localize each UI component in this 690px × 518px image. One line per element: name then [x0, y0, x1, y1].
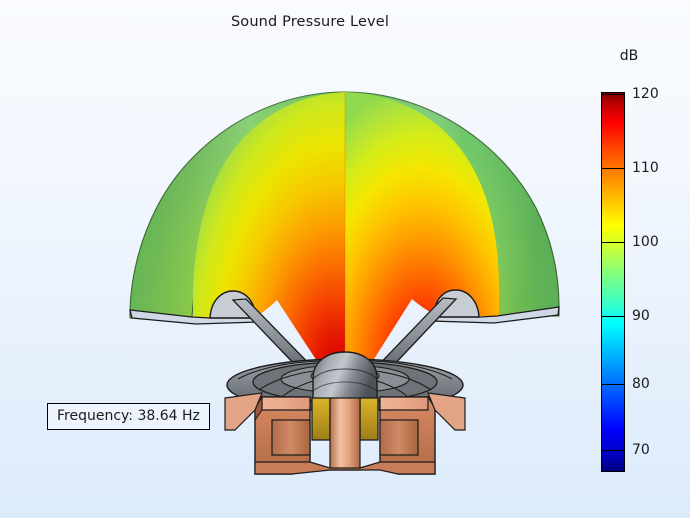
magnet-right-top	[380, 397, 428, 410]
magnet-assembly	[225, 393, 465, 474]
colorbar-gradient	[601, 92, 625, 472]
voice-coil-left	[312, 398, 330, 440]
colorbar: dB 120 110 100 90 80 70	[598, 44, 690, 484]
magnet-right-recess	[380, 420, 418, 455]
colorbar-tick	[601, 242, 625, 243]
three-d-scene	[0, 0, 600, 518]
colorbar-tick	[601, 168, 625, 169]
dust-cap	[313, 352, 377, 400]
plot-canvas: Sound Pressure Level	[0, 0, 690, 518]
colorbar-tick	[601, 316, 625, 317]
voice-coil-right	[360, 398, 378, 440]
colorbar-tick-label: 110	[632, 160, 659, 176]
colorbar-tick-label: 90	[632, 308, 650, 324]
colorbar-tick-label: 80	[632, 376, 650, 392]
frequency-annotation: Frequency: 38.64 Hz	[47, 403, 210, 430]
colorbar-tick-label: 100	[632, 234, 659, 250]
colorbar-tick	[601, 450, 625, 451]
colorbar-tick-label: 120	[632, 86, 659, 102]
magnet-left-recess	[272, 420, 310, 455]
magnet-left-top	[262, 397, 310, 410]
colorbar-tick-label: 70	[632, 442, 650, 458]
colorbar-tick	[601, 94, 625, 95]
colorbar-tick	[601, 384, 625, 385]
colorbar-unit-label: dB	[606, 48, 652, 64]
pole-piece	[330, 398, 360, 470]
